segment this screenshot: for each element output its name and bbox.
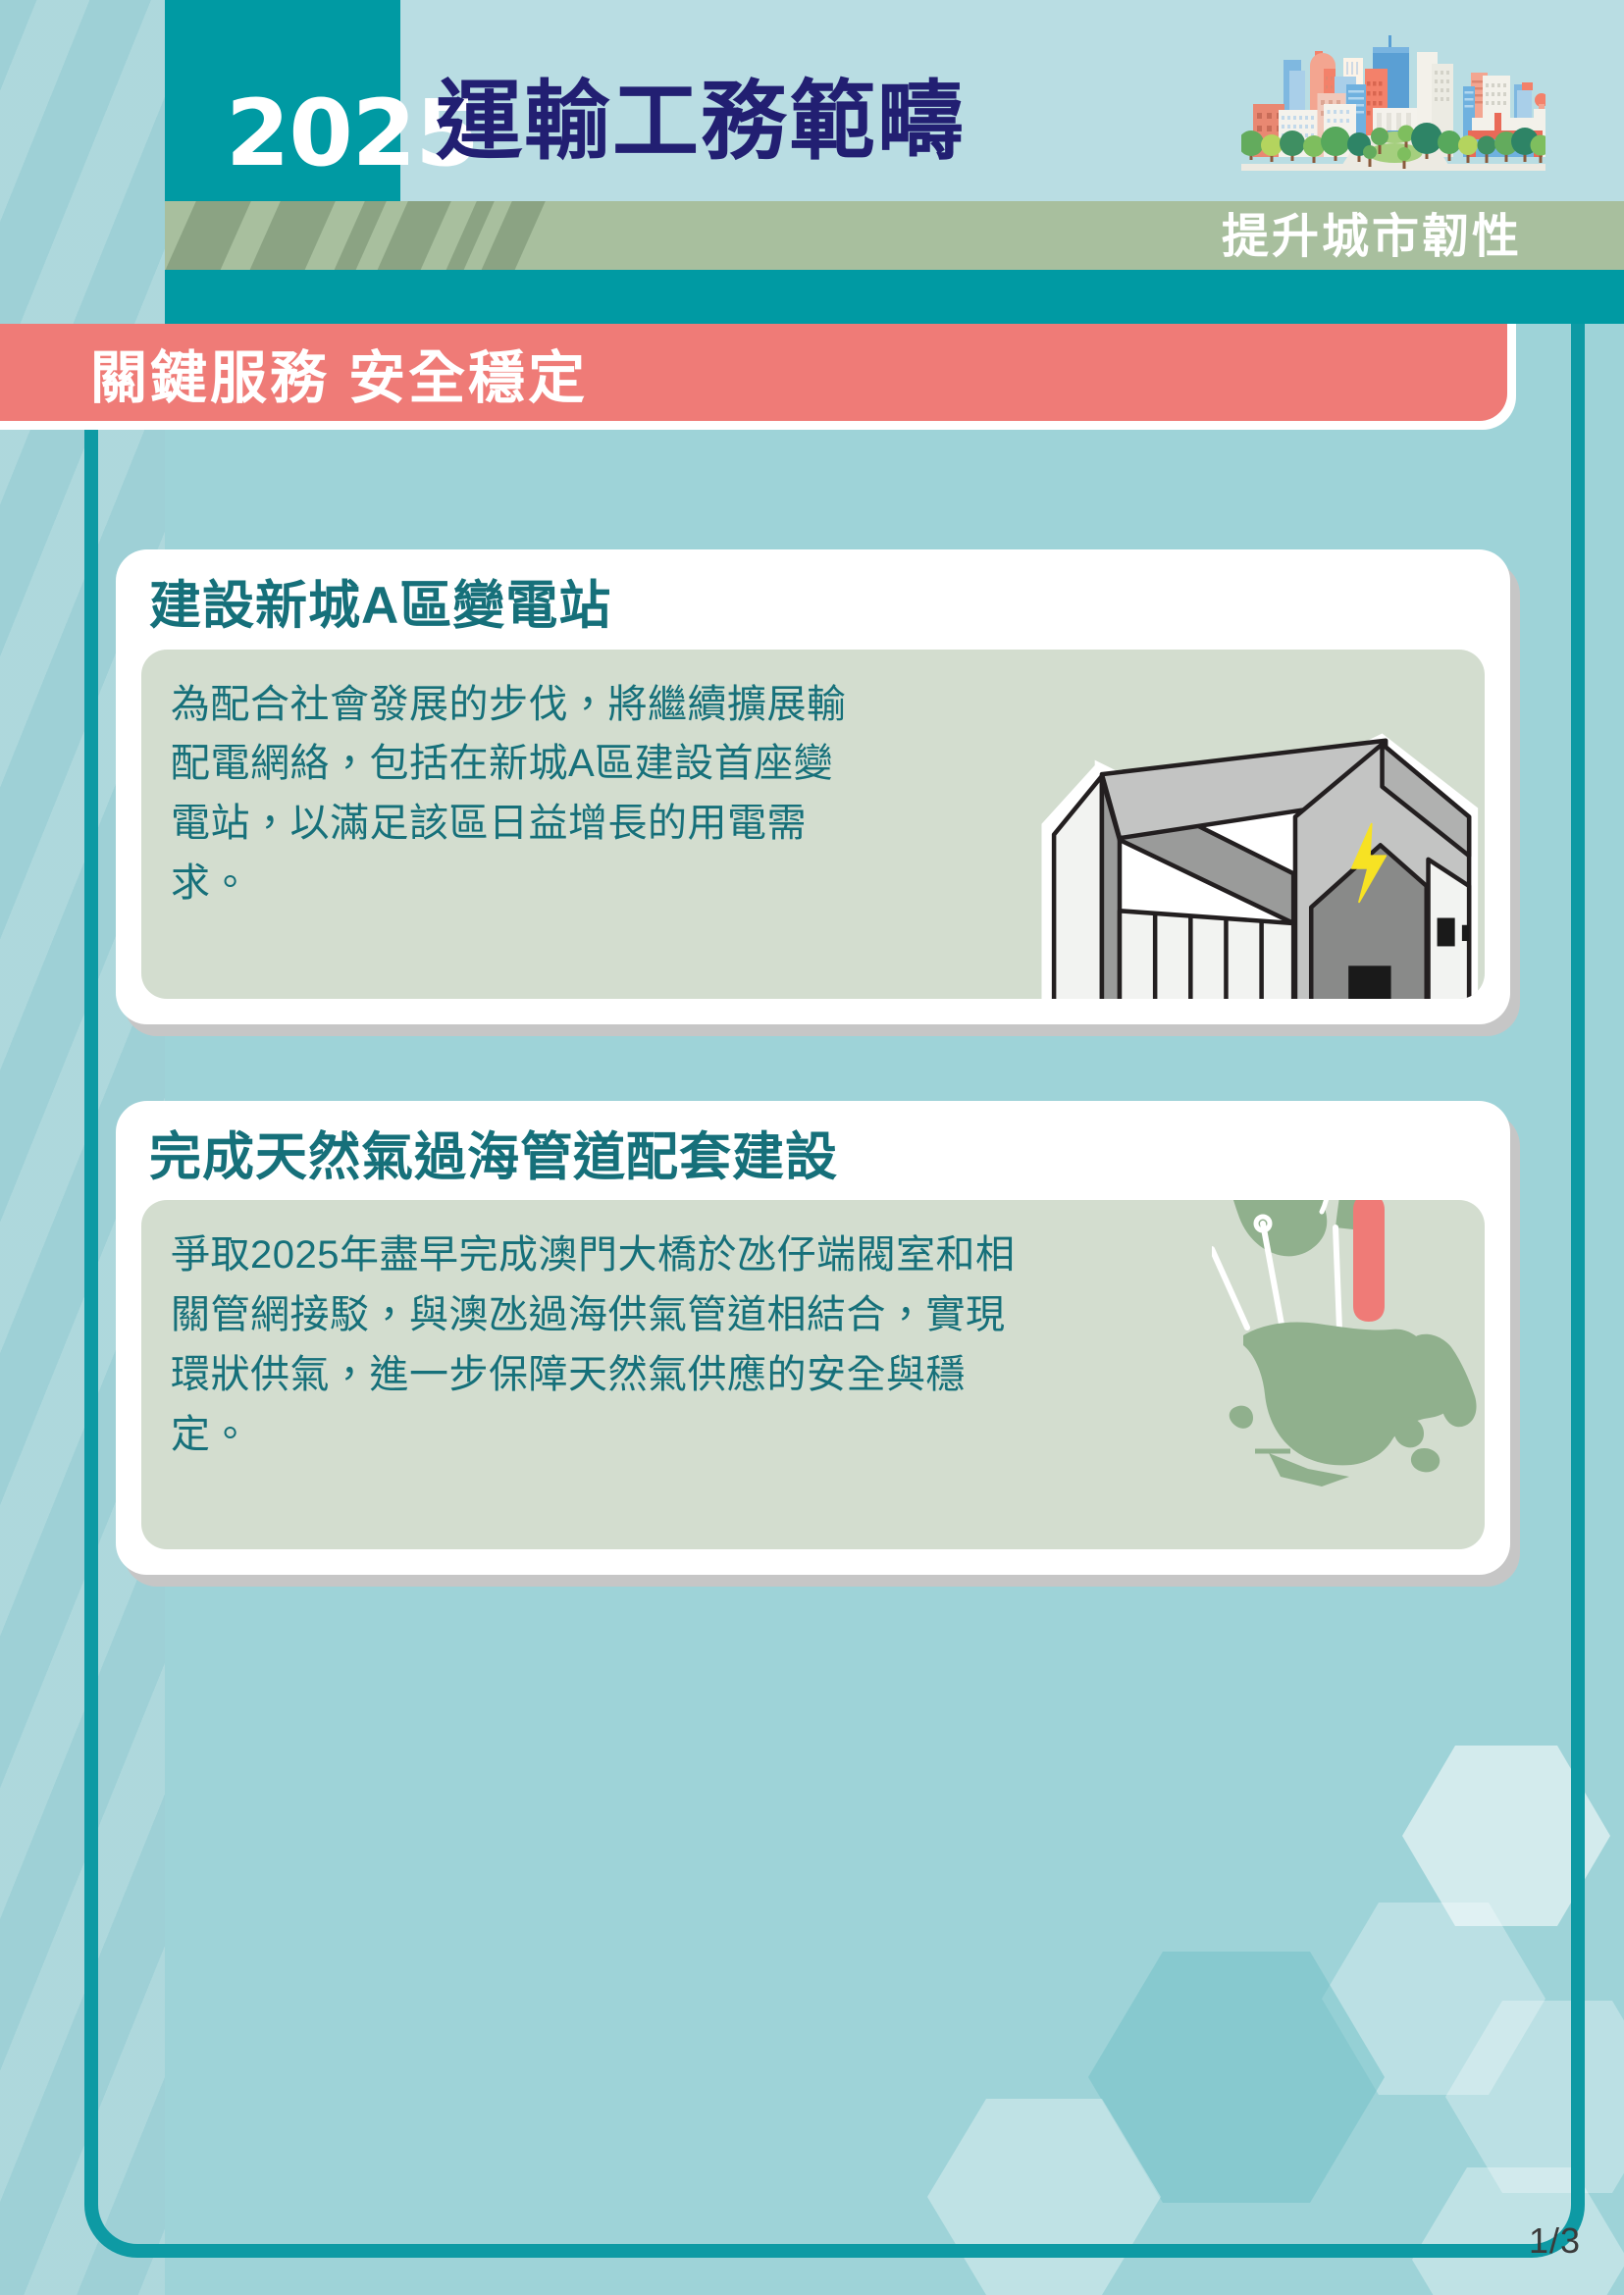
- card-title: 完成天然氣過海管道配套建設: [149, 1130, 1485, 1185]
- card-surface: 建設新城A區變電站 為配合社會發展的步伐，將繼續擴展輸配電網絡，包括在新城A區建…: [116, 549, 1510, 1024]
- page-indicator: 1/3: [1529, 2220, 1581, 2262]
- city-skyline-icon: [1241, 22, 1545, 206]
- infographic-page: 2025 運輸工務範疇 提升城市韌性 關鍵服務 安全穩定 建設新城A區變電站 為…: [0, 0, 1624, 2295]
- page-title: 運輸工務範疇: [436, 78, 966, 165]
- card-text: 為配合社會發展的步伐，將繼續擴展輸配電網絡，包括在新城A區建設首座變電站，以滿足…: [171, 675, 858, 913]
- card-list: 建設新城A區變電站 為配合社會發展的步伐，將繼續擴展輸配電網絡，包括在新城A區建…: [116, 549, 1510, 1651]
- banner-fill: 關鍵服務 安全穩定: [0, 324, 1507, 421]
- card-item: 建設新城A區變電站 為配合社會發展的步伐，將繼續擴展輸配電網絡，包括在新城A區建…: [116, 549, 1510, 1024]
- page-header: 2025 運輸工務範疇 提升城市韌性: [165, 0, 1624, 324]
- card-text: 爭取2025年盡早完成澳門大橋於氹仔端閥室和相關管網接駁，與澳氹過海供氣管道相結…: [171, 1226, 1034, 1464]
- card-title: 建設新城A區變電站: [149, 579, 1485, 634]
- card-body: 為配合社會發展的步伐，將繼續擴展輸配電網絡，包括在新城A區建設首座變電站，以滿足…: [141, 650, 1485, 999]
- header-teal-strip: [165, 270, 1624, 324]
- macau-map-pipeline-icon: [1212, 1200, 1485, 1516]
- electrical-substation-icon: [1027, 720, 1485, 999]
- page-subtitle: 提升城市韌性: [1222, 214, 1522, 261]
- section-banner: 關鍵服務 安全穩定: [0, 324, 1516, 430]
- card-surface: 完成天然氣過海管道配套建設 爭取2025年盡早完成澳門大橋於氹仔端閥室和相關管網…: [116, 1101, 1510, 1576]
- card-item: 完成天然氣過海管道配套建設 爭取2025年盡早完成澳門大橋於氹仔端閥室和相關管網…: [116, 1101, 1510, 1576]
- banner-label: 關鍵服務 安全穩定: [90, 332, 588, 414]
- card-body: 爭取2025年盡早完成澳門大橋於氹仔端閥室和相關管網接駁，與澳氹過海供氣管道相結…: [141, 1200, 1485, 1549]
